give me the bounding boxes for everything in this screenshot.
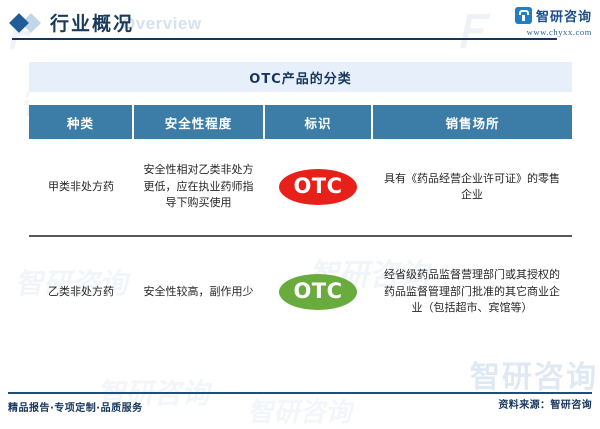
brand-url[interactable]: www.chyxx.com [515,27,592,37]
brand-block: 智研咨询 www.chyxx.com [515,6,592,37]
table-row: 乙类非处方药 安全性较高，副作用少 OTC 经省级药品监督营理部门或其授权的药品… [29,236,572,347]
brand-logo-icon [515,7,532,24]
table-title: OTC产品的分类 [249,68,351,87]
cell-mark: OTC [264,236,372,347]
cell-safety: 安全性相对乙类非处方更低，应在执业药师指导下购买使用 [133,139,264,236]
table-card: OTC产品的分类 种类 安全性程度 标识 销售场所 甲类非处方药 安全性相对乙类… [29,62,572,347]
footer-divider [8,392,592,394]
column-header-kind: 种类 [29,105,133,139]
cell-mark: OTC [264,139,372,236]
otc-classification-table: 种类 安全性程度 标识 销售场所 甲类非处方药 安全性相对乙类非处方更低，应在执… [29,105,572,347]
cell-kind: 甲类非处方药 [29,139,133,236]
table-header-row: 种类 安全性程度 标识 销售场所 [29,105,572,139]
cell-place: 具有《药品经营企业许可证》的零售企业 [372,139,572,236]
watermark-brand-bottom-mid: 智研咨询 [246,392,358,429]
otc-badge-green: OTC [279,274,357,310]
page-header: Overview 行业概况 [0,0,600,48]
otc-badge-red: OTC [279,169,357,205]
diamond-front-icon [9,13,29,33]
cell-place: 经省级药品监督营理部门或其授权的药品监督管理部门批准的其它商业企业（包括超市、宾… [372,236,572,347]
cell-safety: 安全性较高，副作用少 [133,236,264,347]
column-header-mark: 标识 [264,105,372,139]
header-divider [12,38,557,40]
column-header-safety: 安全性程度 [133,105,264,139]
table-row: 甲类非处方药 安全性相对乙类非处方更低，应在执业药师指导下购买使用 OTC 具有… [29,139,572,236]
brand-row: 智研咨询 [515,6,592,25]
brand-name: 智研咨询 [536,6,592,25]
table-title-bar: OTC产品的分类 [29,62,572,92]
table-title-spacer [29,92,572,105]
column-header-place: 销售场所 [372,105,572,139]
footer-source: 资料来源：智研咨询 [498,396,592,411]
watermark-brand-bottom-right: 智研咨询 [470,352,598,396]
cell-kind: 乙类非处方药 [29,236,133,347]
header-title-cn: 行业概况 [50,9,134,36]
footer-slogan: 精品报告·专项定制·品质服务 [8,399,143,414]
diamond-bullet-icon [12,14,46,34]
